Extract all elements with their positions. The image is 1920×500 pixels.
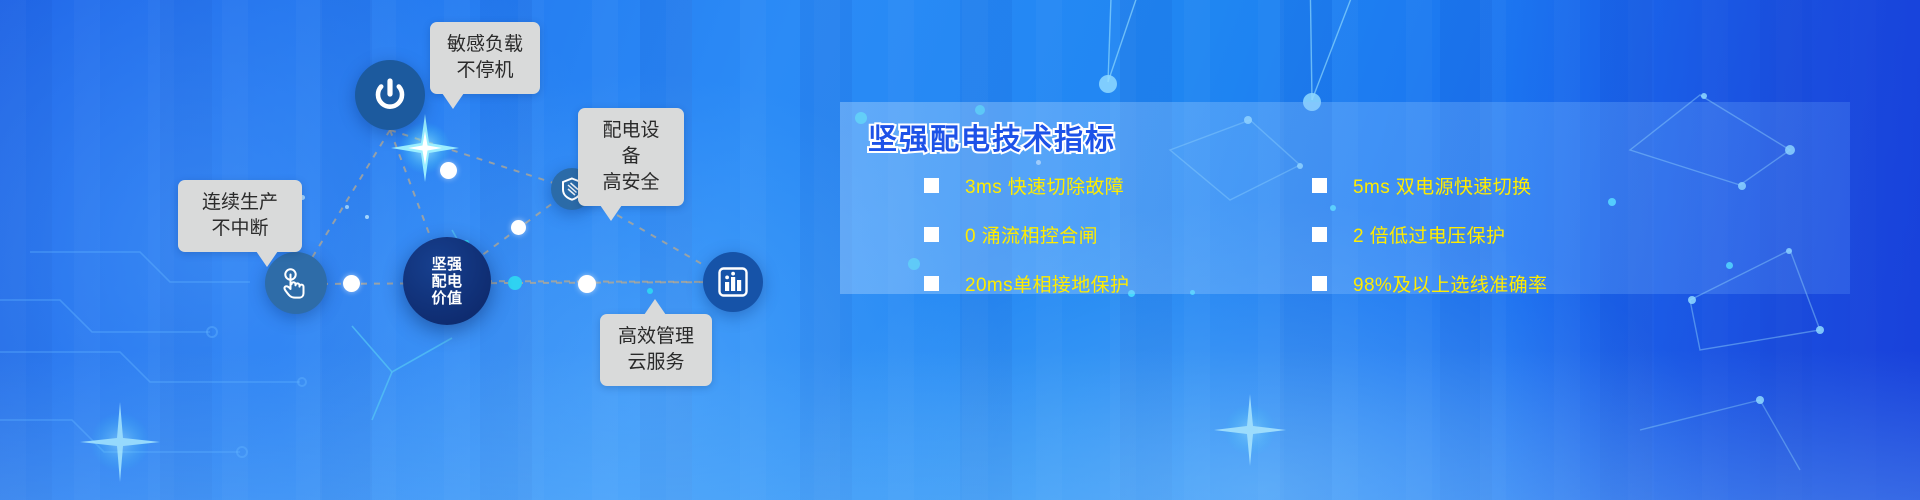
panel-title: 坚强配电技术指标	[868, 116, 1116, 158]
callout-continuous-production[interactable]: 连续生产 不中断	[178, 180, 302, 252]
bullet-square-icon	[1312, 227, 1327, 242]
indicator-label: 0 涌流相控合闸	[965, 221, 1098, 248]
indicator-label: 3ms 快速切除故障	[965, 172, 1124, 199]
bullet-square-icon	[1312, 276, 1327, 291]
bullet-square-icon	[924, 178, 939, 193]
indicator-label: 2 倍低过电压保护	[1353, 221, 1505, 248]
callout-line-2: 高安全	[594, 170, 668, 196]
callout-tail	[600, 205, 622, 221]
center-value-node[interactable]: 坚强 配电 价值	[403, 237, 491, 325]
callout-line-1: 高效管理	[616, 324, 696, 350]
connector-dot	[511, 220, 526, 235]
indicator-item[interactable]: 5ms 双电源快速切换	[1312, 172, 1682, 199]
indicator-item[interactable]: 2 倍低过电压保护	[1312, 221, 1682, 248]
indicator-item[interactable]: 0 涌流相控合闸	[924, 221, 1294, 248]
indicator-label: 98%及以上选线准确率	[1353, 270, 1547, 297]
power-icon-node[interactable]	[355, 60, 425, 130]
callout-tail	[256, 251, 278, 267]
callout-cloud-management[interactable]: 高效管理 云服务	[600, 314, 712, 386]
callout-tail	[644, 299, 666, 315]
tech-indicator-panel: 坚强配电技术指标 3ms 快速切除故障 5ms 双电源快速切换 0 涌流相控合闸…	[840, 102, 1850, 294]
connector-dot	[578, 275, 596, 293]
banner-stage: 坚强 配电 价值 敏感负载 不停机 配电设备 高安全 连续生产 不中断 高效管理…	[0, 0, 1920, 500]
callout-line-1: 敏感负载	[446, 32, 524, 58]
power-icon	[370, 75, 410, 115]
indicator-item[interactable]: 20ms单相接地保护	[924, 270, 1294, 297]
hand-touch-icon	[277, 264, 315, 302]
callout-line-1: 配电设备	[594, 118, 668, 170]
callout-line-2: 云服务	[616, 350, 696, 376]
indicator-label: 5ms 双电源快速切换	[1353, 172, 1532, 199]
accent-dot	[647, 288, 653, 294]
connector-dot	[343, 275, 360, 292]
callout-sensitive-load[interactable]: 敏感负载 不停机	[430, 22, 540, 94]
accent-dot	[508, 276, 522, 290]
particle	[365, 215, 369, 219]
bullet-square-icon	[924, 276, 939, 291]
bar-chart-icon-node[interactable]	[703, 252, 763, 312]
particle	[345, 205, 349, 209]
bullet-square-icon	[924, 227, 939, 242]
center-value-text: 坚强 配电 价值	[431, 256, 462, 307]
indicator-item[interactable]: 98%及以上选线准确率	[1312, 270, 1682, 297]
center-line-3: 价值	[431, 290, 462, 307]
bullet-square-icon	[1312, 178, 1327, 193]
callout-line-2: 不停机	[446, 58, 524, 84]
indicator-grid: 3ms 快速切除故障 5ms 双电源快速切换 0 涌流相控合闸 2 倍低过电压保…	[924, 172, 1684, 297]
center-line-1: 坚强	[431, 256, 462, 273]
callout-distribution-equipment[interactable]: 配电设备 高安全	[578, 108, 684, 206]
callout-tail	[442, 93, 464, 109]
connector-dot	[440, 162, 457, 179]
callout-line-2: 不中断	[194, 216, 286, 242]
bar-chart-icon	[716, 265, 750, 299]
indicator-label: 20ms单相接地保护	[965, 270, 1129, 297]
center-line-2: 配电	[431, 273, 462, 290]
callout-line-1: 连续生产	[194, 190, 286, 216]
indicator-item[interactable]: 3ms 快速切除故障	[924, 172, 1294, 199]
